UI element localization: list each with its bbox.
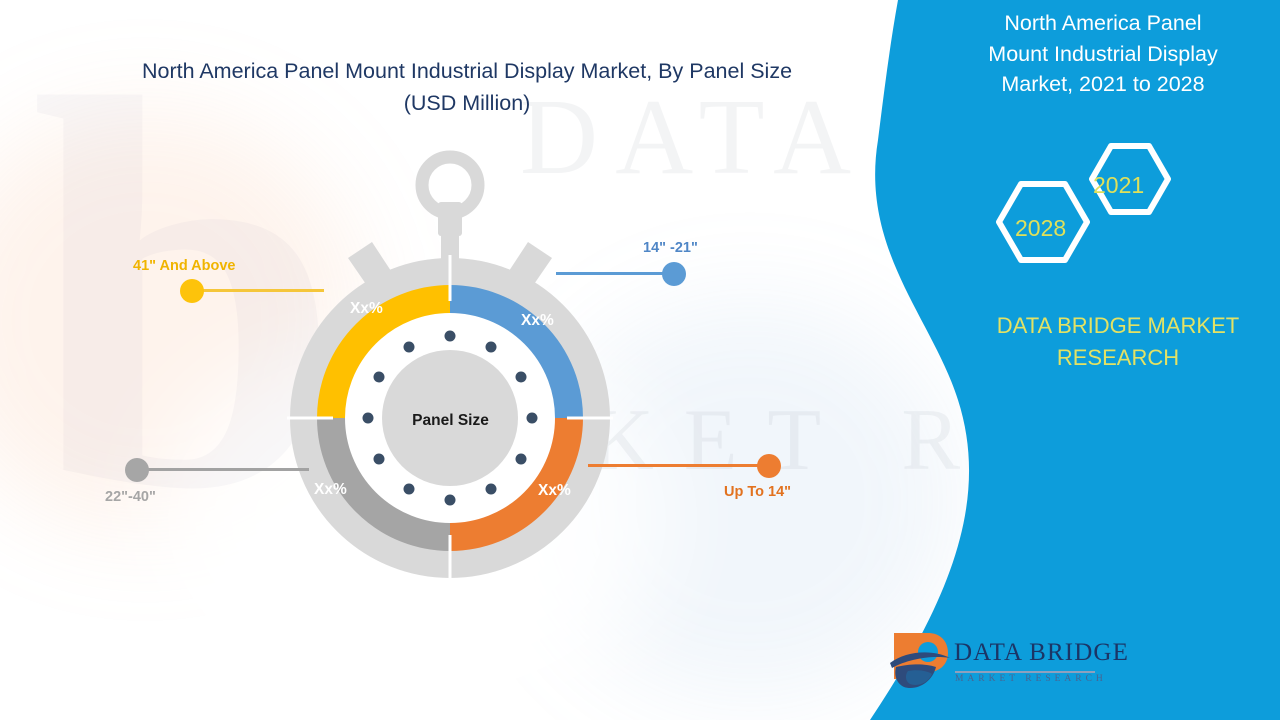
- callout-label-22-40: 22"-40": [105, 489, 156, 505]
- data-bridge-logo: DATA BRIDGE MARKET RESEARCH: [888, 627, 1100, 699]
- page-title-line-2: (USD Million): [72, 88, 862, 120]
- panel-title-line-3: Market, 2021 to 2028: [938, 69, 1268, 100]
- callout-line-14-21: [556, 272, 678, 275]
- pct-label-41-and-above: Xx%: [350, 300, 383, 318]
- panel-title-line-2: Mount Industrial Display: [938, 39, 1268, 70]
- brand-line-1: DATA BRIDGE MARKET: [968, 310, 1268, 342]
- hex-year-2021: 2021: [1093, 172, 1144, 199]
- callout-label-41-and-above: 41" And Above: [133, 258, 235, 274]
- brand-line-2: RESEARCH: [968, 342, 1268, 374]
- donut-center-label: Panel Size: [348, 412, 553, 430]
- page-title-line-1: North America Panel Mount Industrial Dis…: [72, 56, 862, 88]
- pct-label-up-to-14: Xx%: [538, 482, 571, 500]
- brand-name-text: DATA BRIDGE MARKET RESEARCH: [968, 310, 1268, 374]
- hex-year-2028: 2028: [1015, 215, 1066, 242]
- page-title: North America Panel Mount Industrial Dis…: [72, 56, 862, 120]
- pct-label-14-21: Xx%: [521, 312, 554, 330]
- callout-line-41-and-above: [192, 289, 324, 292]
- hexagon-outlines-icon: [985, 138, 1185, 268]
- logo-subtitle-text: MARKET RESEARCH: [955, 674, 1107, 684]
- callout-line-up-to-14: [588, 464, 768, 467]
- callout-label-14-21: 14" -21": [643, 240, 698, 256]
- donut-chart: [252, 150, 652, 590]
- callout-dot-up-to-14[interactable]: [757, 454, 781, 478]
- donut-chart-svg: [252, 150, 652, 590]
- logo-name-text: DATA BRIDGE: [954, 639, 1129, 667]
- year-hexagons: 2021 2028: [985, 138, 1185, 268]
- callout-dot-14-21[interactable]: [662, 262, 686, 286]
- callout-dot-22-40[interactable]: [125, 458, 149, 482]
- data-bridge-mark-icon: [888, 627, 952, 693]
- panel-title-line-1: North America Panel: [938, 8, 1268, 39]
- logo-divider: [955, 671, 1095, 673]
- callout-label-up-to-14: Up To 14": [724, 484, 791, 500]
- callout-line-22-40: [137, 468, 309, 471]
- pct-label-22-40: Xx%: [314, 481, 347, 499]
- infographic-slide: b DATA BRIDGE MARKET RESEARCH North Amer…: [0, 0, 1280, 720]
- panel-title: North America Panel Mount Industrial Dis…: [938, 8, 1268, 100]
- callout-dot-41-and-above[interactable]: [180, 279, 204, 303]
- stopwatch-crown-icon: [422, 157, 478, 264]
